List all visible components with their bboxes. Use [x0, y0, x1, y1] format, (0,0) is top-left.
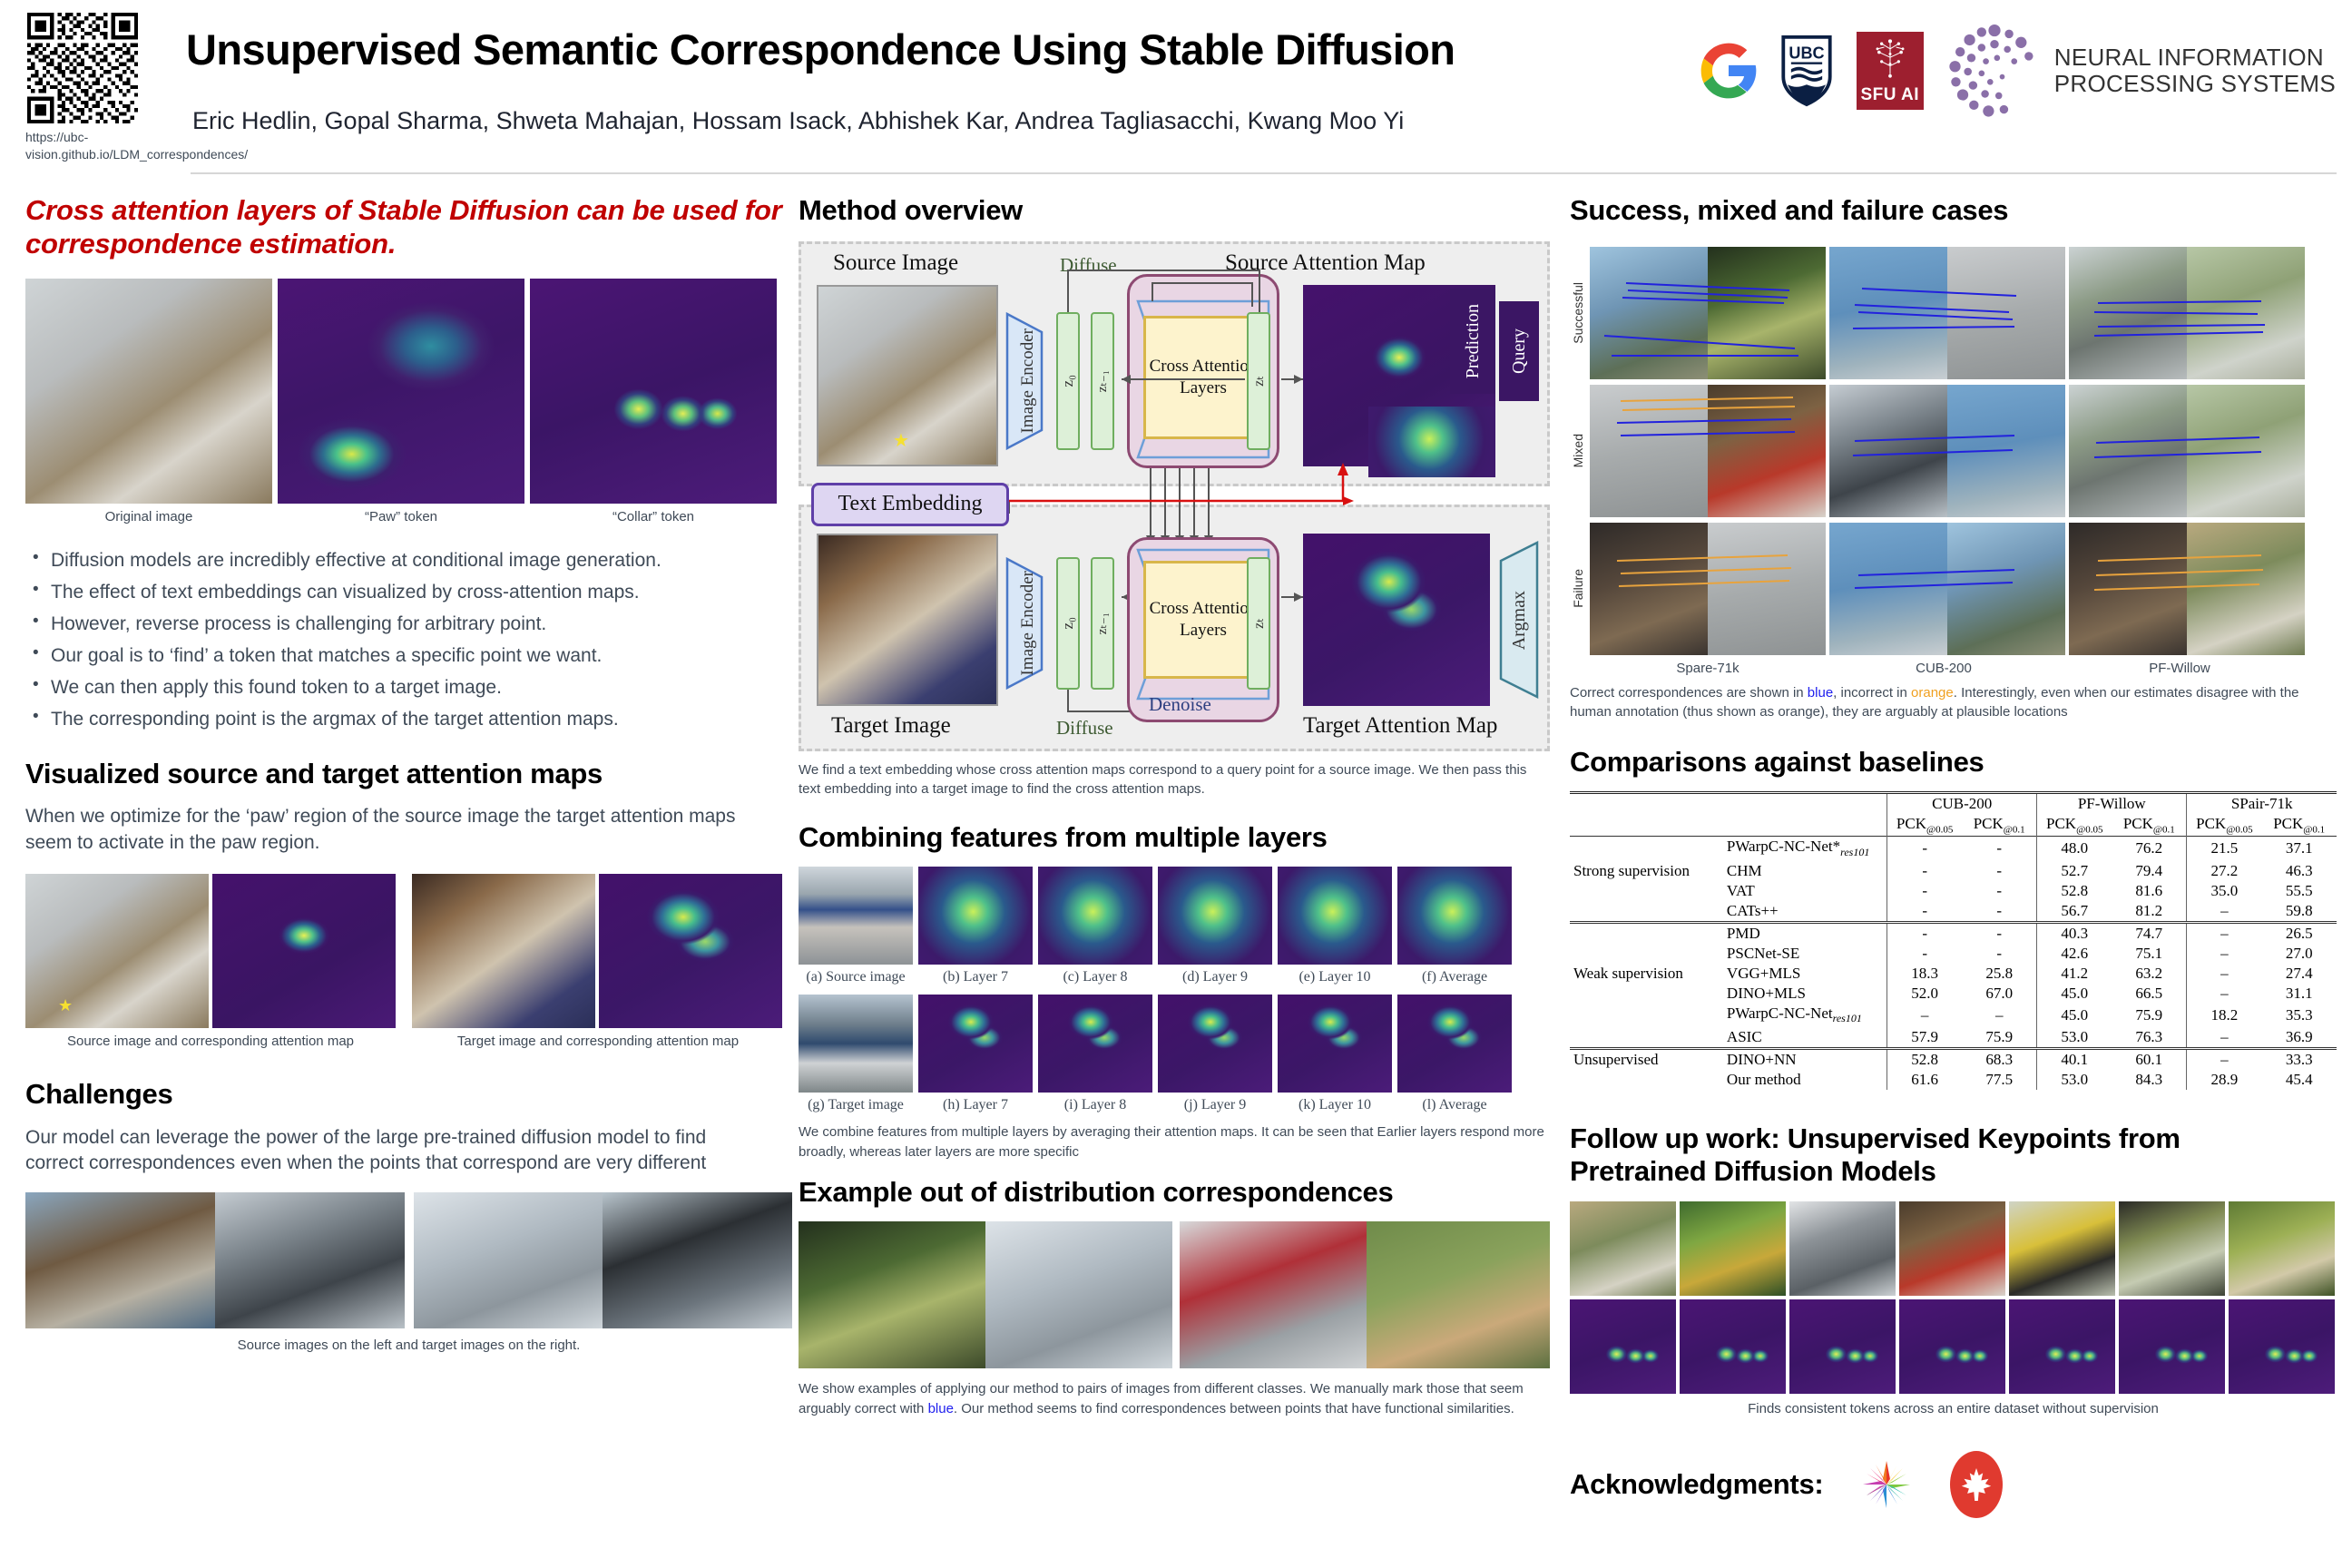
dataset-header-pfwillow: PF-Willow — [2037, 792, 2187, 814]
layer-label: (c) Layer 8 — [1038, 969, 1152, 985]
metric-value-cell: - — [1962, 837, 2037, 861]
method-latent-zt1-bottom: zₜ₋₁ — [1091, 557, 1114, 690]
metric-value-cell: 27.4 — [2261, 964, 2337, 984]
followup-photo — [2009, 1201, 2115, 1296]
metric-value-cell: 81.2 — [2112, 901, 2187, 923]
case-image — [1947, 385, 2065, 517]
target-image — [412, 874, 595, 1028]
method-name-cell: CATs++ — [1718, 901, 1887, 923]
latent-z0-label-bottom: z₀ — [1059, 617, 1077, 629]
ood-target-plane — [985, 1221, 1172, 1368]
metric-value-cell: 52.8 — [2037, 881, 2112, 901]
layer-label: (f) Average — [1397, 969, 1512, 985]
metric-value-cell: – — [2187, 944, 2262, 964]
metric-value-cell: 75.1 — [2112, 944, 2187, 964]
layer10-source-map — [1278, 867, 1392, 965]
layer7-target-map — [918, 995, 1033, 1093]
cases-column-labels: Spare-71k CUB-200 PF-Willow — [1590, 661, 2337, 676]
method-subscript: res101 — [1833, 1012, 1862, 1024]
layer-label: (h) Layer 7 — [918, 1097, 1033, 1113]
compute-canada-star-icon — [1859, 1457, 1914, 1512]
method-name-cell: Our method — [1718, 1070, 1887, 1090]
left-headline: Cross attention layers of Stable Diffusi… — [25, 194, 792, 260]
list-item: However, reverse process is challenging … — [25, 610, 792, 639]
metric-value-cell: 66.5 — [2112, 984, 2187, 1004]
layer-label: (d) Layer 9 — [1158, 969, 1272, 985]
layer-label: (b) Layer 7 — [918, 969, 1033, 985]
project-url[interactable]: https://ubc-vision.github.io/LDM_corresp… — [25, 129, 162, 163]
ood-section-title: Example out of distribution corresponden… — [799, 1176, 1550, 1209]
challenge-source-plane — [414, 1192, 603, 1328]
case-image — [2069, 523, 2187, 655]
metric-value-cell: 53.0 — [2037, 1070, 2112, 1090]
metric-value-cell: 61.6 — [1887, 1070, 1963, 1090]
method-caption: We find a text embedding whose cross att… — [799, 760, 1550, 800]
table-row: PMD--40.374.7–26.5 — [1570, 922, 2337, 944]
case-image — [1708, 385, 1826, 517]
table-row: Strong supervisionCHM--52.779.427.246.3 — [1570, 861, 2337, 881]
method-name-cell: VGG+MLS — [1718, 964, 1887, 984]
sfu-ai-logo: SFU AI — [1857, 32, 1924, 110]
supervision-group-label — [1570, 837, 1718, 861]
followup-photo — [1570, 1201, 1676, 1296]
table-row: Weak supervisionVGG+MLS18.325.841.263.2–… — [1570, 964, 2337, 984]
target-attention-map-label: Target Attention Map — [1303, 713, 1497, 739]
metric-header: PCK@0.05 — [1887, 814, 1963, 837]
cases-row-failure — [1590, 523, 2305, 655]
teaser-caption-row: Original image “Paw” token “Collar” toke… — [25, 509, 792, 524]
neurips-line1: NEURAL INFORMATION — [2054, 44, 2336, 71]
layer-source-image — [799, 867, 913, 965]
method-subscript: res101 — [1840, 846, 1869, 858]
method-name-cell: ASIC — [1718, 1027, 1887, 1049]
nserc-maple-logo — [1950, 1451, 2003, 1518]
metric-value-cell: 52.8 — [1887, 1048, 1963, 1070]
metric-value-cell: 18.3 — [1887, 964, 1963, 984]
layer-target-image — [799, 995, 913, 1093]
comparison-table-body: PWarpC-NC-Net*res101--48.076.221.537.1St… — [1570, 837, 2337, 1090]
ood-source-bird — [799, 1221, 985, 1368]
teaser-image-row — [25, 279, 792, 504]
metric-value-cell: 52.0 — [1887, 984, 1963, 1004]
metric-value-cell: 53.0 — [2037, 1027, 2112, 1049]
challenges-body: Our model can leverage the power of the … — [25, 1125, 765, 1177]
followup-photo — [1899, 1201, 2005, 1296]
metric-value-cell: – — [2187, 901, 2262, 923]
case-image — [2187, 247, 2305, 379]
target-image-label: Target Image — [831, 713, 951, 739]
followup-caption: Finds consistent tokens across an entire… — [1570, 1401, 2337, 1416]
middle-column: Method overview Source Image Source Atte… — [799, 194, 1550, 1418]
layer-label: (i) Layer 8 — [1038, 1097, 1152, 1113]
method-latent-z0-bottom: z₀ — [1056, 557, 1080, 690]
case-image — [2187, 523, 2305, 655]
case-row-label-successful: Successful — [1571, 282, 1585, 344]
sfu-ai-label: SFU AI — [1860, 85, 1919, 110]
maple-leaf-icon — [1960, 1466, 1993, 1503]
metric-value-cell: 27.0 — [2261, 944, 2337, 964]
method-cross-attention-bottom: Cross Attention Layers — [1143, 561, 1263, 679]
metric-value-cell: 59.8 — [2261, 901, 2337, 923]
supervision-group-label — [1570, 922, 1718, 944]
neurips-spiral-icon — [1947, 24, 2042, 118]
metric-value-cell: - — [1887, 881, 1963, 901]
author-list: Eric Hedlin, Gopal Sharma, Shweta Mahaja… — [192, 107, 1662, 135]
metric-value-cell: - — [1962, 881, 2037, 901]
metric-value-cell: 21.5 — [2187, 837, 2262, 861]
source-image: ★ — [25, 874, 209, 1028]
case-image — [1829, 247, 1947, 379]
method-image-encoder-label-bottom: Image Encoder — [1018, 571, 1038, 676]
supervision-group-label — [1570, 984, 1718, 1004]
metric-value-cell: 52.7 — [2037, 861, 2112, 881]
table-header-datasets: CUB-200 PF-Willow SPair-71k — [1570, 792, 2337, 814]
case-image — [2069, 385, 2187, 517]
denoise-label-bottom: Denoise — [1149, 693, 1211, 716]
method-overview-figure: Source Image Source Attention Map Diffus… — [799, 241, 1550, 751]
metric-header: PCK@0.1 — [2112, 814, 2187, 837]
challenge-target-bird — [215, 1192, 405, 1328]
supervision-group-label — [1570, 1004, 1718, 1027]
case-image — [1708, 247, 1826, 379]
case-image — [2069, 247, 2187, 379]
cases-row-successful — [1590, 247, 2305, 379]
metric-value-cell: 68.3 — [1962, 1048, 2037, 1070]
ood-source-chair — [1180, 1221, 1367, 1368]
attention-maps-image-row: ★ — [25, 874, 792, 1028]
svg-text:UBC: UBC — [1788, 44, 1824, 63]
neurips-line2: PROCESSING SYSTEMS — [2054, 71, 2336, 97]
ubc-logo-svg: UBC — [1780, 34, 1833, 107]
supervision-group-label: Weak supervision — [1570, 964, 1718, 984]
layer8-source-map — [1038, 867, 1152, 965]
list-item: We can then apply this found token to a … — [25, 673, 792, 702]
method-name-cell: PMD — [1718, 922, 1887, 944]
source-query-star-icon: ★ — [58, 997, 73, 1014]
metric-value-cell: 45.4 — [2261, 1070, 2337, 1090]
followup-keypoint-map — [1570, 1299, 1676, 1394]
followup-image-row-maps — [1570, 1299, 2337, 1394]
layers-row-2-labels: (g) Target image (h) Layer 7 (i) Layer 8… — [799, 1097, 1550, 1113]
case-row-label-failure: Failure — [1571, 569, 1585, 608]
method-target-attention-map — [1303, 534, 1490, 706]
cases-row-mixed — [1590, 385, 2305, 517]
metric-value-cell: 35.3 — [2261, 1004, 2337, 1027]
dataset-header-cub200: CUB-200 — [1887, 792, 2037, 814]
metric-value-cell: 63.2 — [2112, 964, 2187, 984]
metric-value-cell: 46.3 — [2261, 861, 2337, 881]
teaser-caption-1: “Paw” token — [278, 509, 524, 524]
latent-zt-label-bottom: zₜ — [1250, 618, 1268, 629]
supervision-group-label — [1570, 881, 1718, 901]
metric-value-cell: 75.9 — [2112, 1004, 2187, 1027]
layer9-target-map — [1158, 995, 1272, 1093]
metric-value-cell: 26.5 — [2261, 922, 2337, 944]
layer-label: (j) Layer 9 — [1158, 1097, 1272, 1113]
metric-value-cell: 40.3 — [2037, 922, 2112, 944]
metric-value-cell: 67.0 — [1962, 984, 2037, 1004]
challenges-section-title: Challenges — [25, 1078, 792, 1111]
google-logo-svg — [1700, 43, 1757, 99]
list-item: The effect of text embeddings can visual… — [25, 578, 792, 607]
challenge-target-plane — [603, 1192, 792, 1328]
cases-grid: Successful Mixed Failure — [1570, 241, 2337, 659]
metric-value-cell: 45.0 — [2037, 984, 2112, 1004]
metric-value-cell: 18.2 — [2187, 1004, 2262, 1027]
metric-value-cell: - — [1887, 837, 1963, 861]
followup-photo — [2119, 1201, 2225, 1296]
qr-code[interactable] — [27, 13, 138, 123]
challenges-caption: Source images on the left and target ima… — [25, 1338, 792, 1353]
layer-label: (k) Layer 10 — [1278, 1097, 1392, 1113]
metric-value-cell: - — [1887, 944, 1963, 964]
metric-value-cell: 79.4 — [2112, 861, 2187, 881]
followup-photo — [1789, 1201, 1896, 1296]
target-attention-map — [599, 874, 782, 1028]
metric-value-cell: – — [2187, 964, 2262, 984]
layer-label: (e) Layer 10 — [1278, 969, 1392, 985]
metric-value-cell: 40.1 — [2037, 1048, 2112, 1070]
method-name-cell: CHM — [1718, 861, 1887, 881]
neurips-logo: NEURAL INFORMATION PROCESSING SYSTEMS — [1947, 24, 2336, 118]
method-name-cell: PWarpC-NC-Netres101 — [1718, 1004, 1887, 1027]
method-name-cell: PWarpC-NC-Net*res101 — [1718, 837, 1887, 861]
case-image — [1947, 523, 2065, 655]
supervision-group-label: Strong supervision — [1570, 861, 1718, 881]
case-image — [1947, 247, 2065, 379]
comparison-table-head: CUB-200 PF-Willow SPair-71k PCK@0.05 PCK… — [1570, 792, 2337, 836]
attention-maps-section-title: Visualized source and target attention m… — [25, 758, 792, 790]
metric-value-cell: 45.0 — [2037, 1004, 2112, 1027]
case-image — [1829, 385, 1947, 517]
table-row: UnsupervisedDINO+NN52.868.340.160.1–33.3 — [1570, 1048, 2337, 1070]
method-target-image — [817, 534, 998, 706]
list-item: The corresponding point is the argmax of… — [25, 705, 792, 734]
target-pair-caption: Target image and corresponding attention… — [408, 1034, 788, 1049]
metric-value-cell: – — [1962, 1004, 2037, 1027]
method-name-cell: VAT — [1718, 881, 1887, 901]
supervision-group-label — [1570, 1070, 1718, 1090]
affiliation-logos: UBC — [1700, 16, 2336, 125]
table-row: ASIC57.975.953.076.3–36.9 — [1570, 1027, 2337, 1049]
metric-value-cell: 60.1 — [2112, 1048, 2187, 1070]
method-section-title: Method overview — [799, 194, 1550, 227]
metric-value-cell: 57.9 — [1887, 1027, 1963, 1049]
metric-value-cell: 55.5 — [2261, 881, 2337, 901]
metric-value-cell: - — [1887, 901, 1963, 923]
case-col-label-pfwillow: PF-Willow — [2062, 661, 2298, 676]
layer-label: (a) Source image — [799, 969, 913, 985]
layer-average-target-map — [1397, 995, 1512, 1093]
compute-canada-logo — [1859, 1457, 1914, 1512]
method-name-cell: DINO+MLS — [1718, 984, 1887, 1004]
metric-value-cell: 81.6 — [2112, 881, 2187, 901]
source-pair-caption: Source image and corresponding attention… — [25, 1034, 396, 1049]
ood-caption: We show examples of applying our method … — [799, 1379, 1550, 1419]
text-embedding-box: Text Embedding — [811, 483, 1009, 526]
key-points-list: Diffusion models are incredibly effectiv… — [25, 546, 792, 733]
metric-header: PCK@0.05 — [2187, 814, 2262, 837]
followup-keypoint-map — [2009, 1299, 2115, 1394]
attention-maps-caption-row: Source image and corresponding attention… — [25, 1034, 792, 1049]
argmax-label: Argmax — [1509, 591, 1530, 650]
case-image — [1590, 523, 1708, 655]
poster-root: https://ubc-vision.github.io/LDM_corresp… — [0, 0, 2352, 1568]
followup-photo — [2229, 1201, 2335, 1296]
cases-caption-orange: orange — [1911, 685, 1954, 701]
followup-keypoint-map — [1899, 1299, 2005, 1394]
table-row: PSCNet-SE--42.675.1–27.0 — [1570, 944, 2337, 964]
case-row-label-mixed: Mixed — [1571, 434, 1585, 467]
comparison-table: CUB-200 PF-Willow SPair-71k PCK@0.05 PCK… — [1570, 791, 2337, 1090]
followup-image-row-photos — [1570, 1201, 2337, 1296]
poster-header: https://ubc-vision.github.io/LDM_corresp… — [0, 0, 2352, 178]
method-latent-zt-bottom: zₜ — [1247, 557, 1270, 690]
ood-image-row — [799, 1221, 1550, 1368]
metric-value-cell: – — [2187, 922, 2262, 944]
diffuse-label-bottom: Diffuse — [1056, 717, 1113, 740]
case-col-label-cub200: CUB-200 — [1826, 661, 2062, 676]
list-item: Diffusion models are incredibly effectiv… — [25, 546, 792, 575]
followup-photo — [1680, 1201, 1786, 1296]
attention-maps-body: When we optimize for the ‘paw’ region of… — [25, 804, 742, 856]
metric-value-cell: 36.9 — [2261, 1027, 2337, 1049]
supervision-group-label: Unsupervised — [1570, 1048, 1718, 1070]
page-title: Unsupervised Semantic Correspondence Usi… — [186, 27, 1656, 72]
metric-value-cell: 35.0 — [2187, 881, 2262, 901]
metric-value-cell: - — [1962, 861, 2037, 881]
comparisons-section-title: Comparisons against baselines — [1570, 746, 2337, 779]
case-image — [1829, 523, 1947, 655]
metric-value-cell: – — [2187, 1027, 2262, 1049]
layers-section-title: Combining features from multiple layers — [799, 821, 1550, 854]
list-item: Our goal is to ‘find’ a token that match… — [25, 642, 792, 671]
case-image — [1708, 523, 1826, 655]
header-divider — [191, 172, 2337, 174]
cases-caption-mid: , incorrect in — [1833, 685, 1911, 701]
followup-keypoint-map — [2229, 1299, 2335, 1394]
case-image — [2187, 385, 2305, 517]
acknowledgments-label: Acknowledgments: — [1570, 1468, 1823, 1501]
qr-code-svg — [27, 13, 138, 123]
source-attention-map — [212, 874, 396, 1028]
sfu-maple-glyph — [1857, 34, 1924, 86]
supervision-group-label — [1570, 1027, 1718, 1049]
metric-value-cell: 28.9 — [2187, 1070, 2262, 1090]
metric-value-cell: 33.3 — [2261, 1048, 2337, 1070]
teaser-caption-2: “Collar” token — [530, 509, 777, 524]
supervision-group-label — [1570, 944, 1718, 964]
method-name-cell: DINO+NN — [1718, 1048, 1887, 1070]
followup-keypoint-map — [1680, 1299, 1786, 1394]
metric-value-cell: - — [1887, 861, 1963, 881]
metric-value-cell: 27.2 — [2187, 861, 2262, 881]
metric-value-cell: 56.7 — [2037, 901, 2112, 923]
teaser-original-image — [25, 279, 272, 504]
google-logo — [1700, 43, 1757, 99]
supervision-group-label — [1570, 901, 1718, 923]
metric-header: PCK@0.1 — [1962, 814, 2037, 837]
challenges-image-row — [25, 1192, 792, 1328]
case-image — [1590, 247, 1708, 379]
metric-value-cell: 41.2 — [2037, 964, 2112, 984]
layer-label: (l) Average — [1397, 1097, 1512, 1113]
neurips-wordmark: NEURAL INFORMATION PROCESSING SYSTEMS — [2054, 44, 2336, 97]
metric-value-cell: 75.9 — [1962, 1027, 2037, 1049]
metric-value-cell: – — [1887, 1004, 1963, 1027]
metric-value-cell: – — [2187, 984, 2262, 1004]
case-col-label-spare71k: Spare-71k — [1590, 661, 1826, 676]
teaser-caption-0: Original image — [25, 509, 272, 524]
layer10-target-map — [1278, 995, 1392, 1093]
metric-value-cell: - — [1962, 944, 2037, 964]
case-image — [1590, 385, 1708, 517]
layers-row-1-labels: (a) Source image (b) Layer 7 (c) Layer 8… — [799, 969, 1550, 985]
ood-caption-post: . Our method seems to find correspondenc… — [954, 1401, 1514, 1416]
table-row: DINO+MLS52.067.045.066.5–31.1 — [1570, 984, 2337, 1004]
metric-value-cell: 76.3 — [2112, 1027, 2187, 1049]
metric-value-cell: 37.1 — [2261, 837, 2337, 861]
dataset-header-spair71k: SPair-71k — [2187, 792, 2337, 814]
method-name-cell: PSCNet-SE — [1718, 944, 1887, 964]
table-row: PWarpC-NC-Net*res101--48.076.221.537.1 — [1570, 837, 2337, 861]
layer9-source-map — [1158, 867, 1272, 965]
layers-caption: We combine features from multiple layers… — [799, 1122, 1550, 1162]
ood-target-horse — [1367, 1221, 1550, 1368]
layer-average-source-map — [1397, 867, 1512, 965]
layer8-target-map — [1038, 995, 1152, 1093]
table-row: CATs++--56.781.2–59.8 — [1570, 901, 2337, 923]
challenge-source-bird — [25, 1192, 215, 1328]
table-row: Our method61.677.553.084.328.945.4 — [1570, 1070, 2337, 1090]
metric-value-cell: 84.3 — [2112, 1070, 2187, 1090]
left-column: Cross attention layers of Stable Diffusi… — [25, 194, 792, 1353]
metric-value-cell: - — [1887, 922, 1963, 944]
right-column: Success, mixed and failure cases Success… — [1570, 194, 2337, 1518]
layers-row-2-images — [799, 995, 1550, 1093]
followup-keypoint-map — [1789, 1299, 1896, 1394]
cases-caption-pre: Correct correspondences are shown in — [1570, 685, 1808, 701]
ood-caption-blue: blue — [928, 1401, 954, 1416]
metric-value-cell: 25.8 — [1962, 964, 2037, 984]
cases-section-title: Success, mixed and failure cases — [1570, 194, 2337, 227]
followup-section-title: Follow up work: Unsupervised Keypoints f… — [1570, 1122, 2287, 1187]
table-header-metrics: PCK@0.05 PCK@0.1 PCK@0.05 PCK@0.1 PCK@0.… — [1570, 814, 2337, 837]
metric-value-cell: – — [2187, 1048, 2262, 1070]
layer7-source-map — [918, 867, 1033, 965]
metric-value-cell: 74.7 — [2112, 922, 2187, 944]
layers-row-1-images — [799, 867, 1550, 965]
teaser-paw-attention-map — [278, 279, 524, 504]
cases-caption-blue: blue — [1808, 685, 1833, 701]
acknowledgments-row: Acknowledgments: — [1570, 1451, 2337, 1518]
metric-value-cell: 76.2 — [2112, 837, 2187, 861]
metric-value-cell: - — [1962, 922, 2037, 944]
ubc-logo: UBC — [1780, 34, 1833, 107]
cases-caption: Correct correspondences are shown in blu… — [1570, 683, 2337, 723]
table-row: PWarpC-NC-Netres101––45.075.918.235.3 — [1570, 1004, 2337, 1027]
metric-header: PCK@0.05 — [2037, 814, 2112, 837]
table-row: VAT--52.881.635.055.5 — [1570, 881, 2337, 901]
latent-zt1-label-bottom: zₜ₋₁ — [1094, 612, 1111, 634]
metric-value-cell: - — [1962, 901, 2037, 923]
metric-value-cell: 48.0 — [2037, 837, 2112, 861]
metric-value-cell: 42.6 — [2037, 944, 2112, 964]
metric-header: PCK@0.1 — [2261, 814, 2337, 837]
teaser-collar-attention-map — [530, 279, 777, 504]
layer-label: (g) Target image — [799, 1097, 913, 1113]
followup-keypoint-map — [2119, 1299, 2225, 1394]
